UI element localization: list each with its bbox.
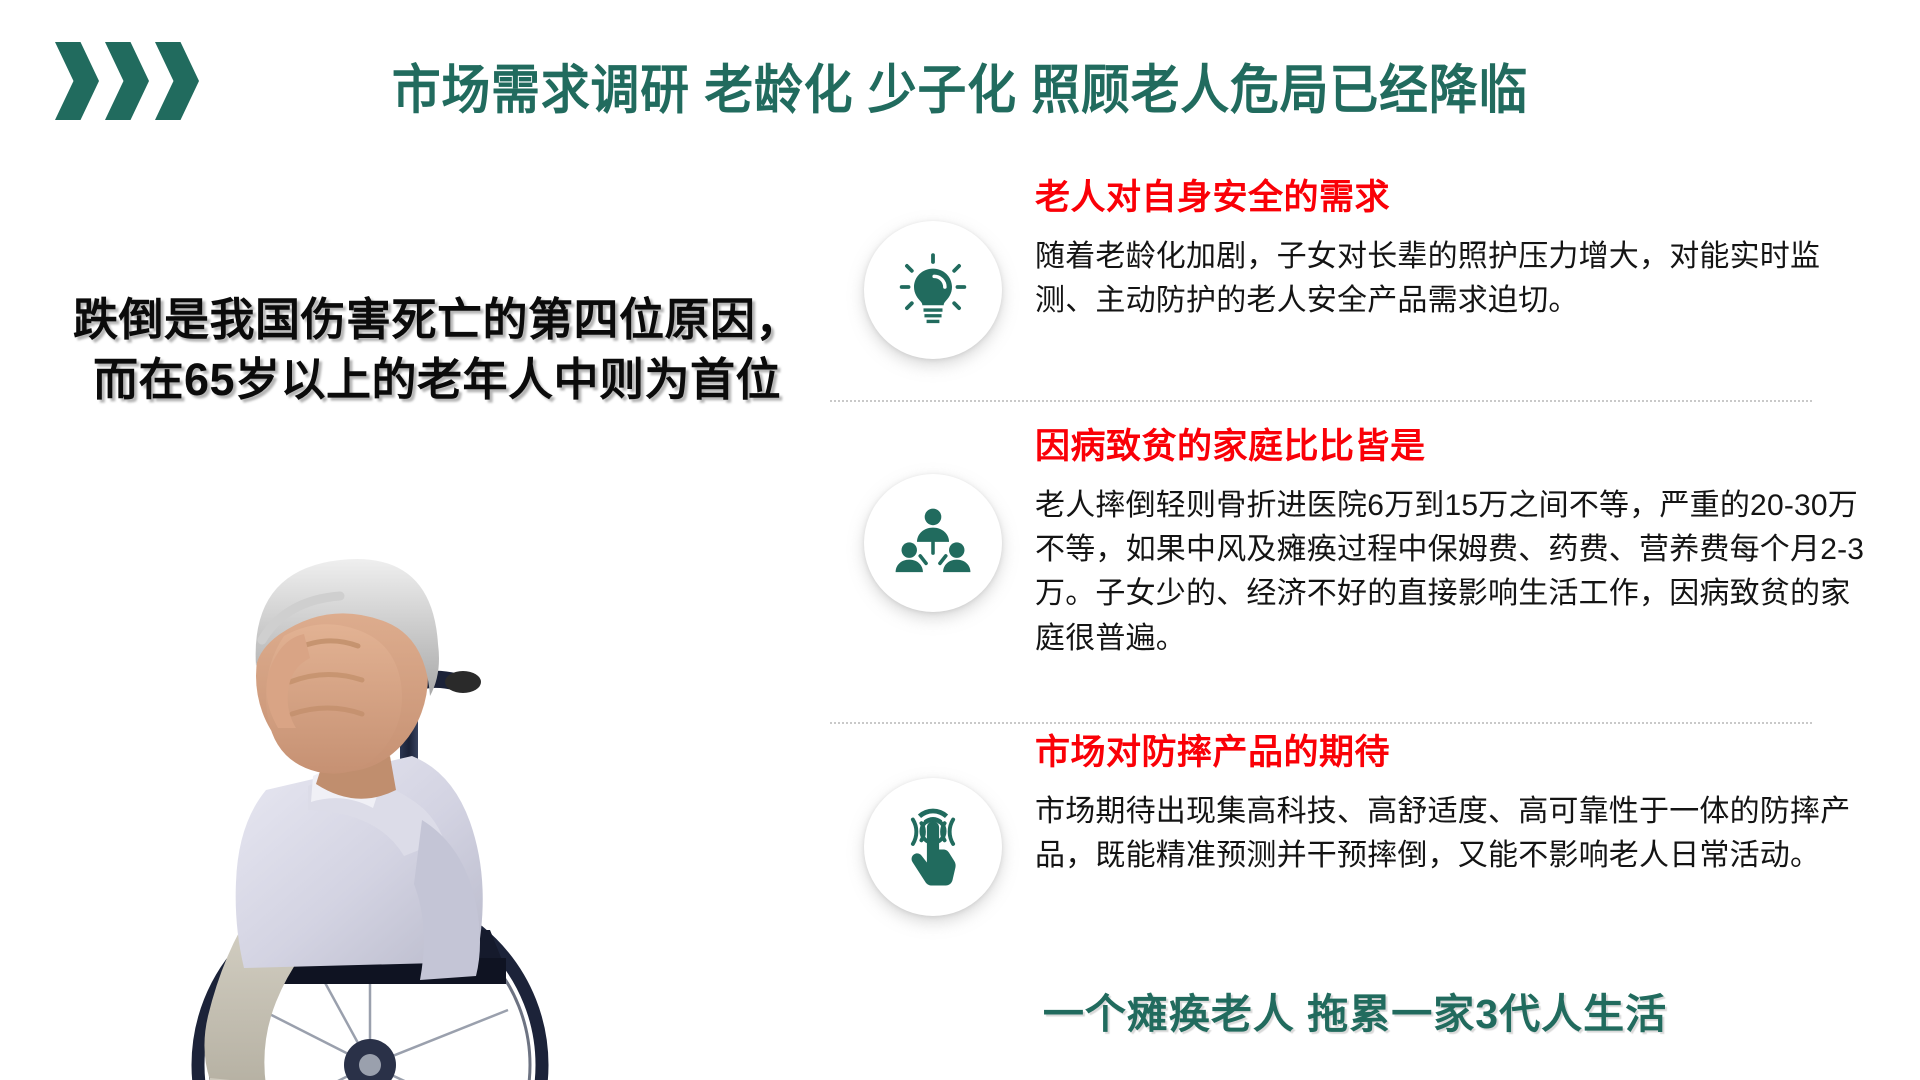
section-2-text: 老人摔倒轻则骨折进医院6万到15万之间不等，严重的20-30万不等，如果中风及瘫… [1035, 484, 1872, 662]
section-3-body: 市场对防摔产品的期待 市场期待出现集高科技、高舒适度、高可靠性于一体的防摔产品，… [1035, 724, 1920, 878]
right-column: 老人对自身安全的需求 随着老龄化加剧，子女对长辈的照护压力增大，对能实时监测、主… [830, 175, 1920, 1080]
footer-tagline: 一个瘫痪老人 拖累一家3代人生活 [830, 980, 1920, 1040]
headline-line-1: 跌倒是我国伤害死亡的第四位原因， [73, 294, 801, 345]
headline: 跌倒是我国伤害死亡的第四位原因， 而在65岁以上的老年人中则为首位 [52, 290, 822, 410]
left-column: 跌倒是我国伤害死亡的第四位原因， 而在65岁以上的老年人中则为首位 [0, 160, 830, 1080]
lightbulb-icon [895, 252, 971, 328]
section-1-badge [830, 221, 1035, 359]
content-section-3: 市场对防摔产品的期待 市场期待出现集高科技、高舒适度、高可靠性于一体的防摔产品，… [830, 724, 1920, 974]
family-group-icon [895, 505, 971, 581]
section-1-title: 老人对自身安全的需求 [1035, 179, 1872, 218]
section-3-badge [830, 778, 1035, 916]
section-1-text: 随着老龄化加剧，子女对长辈的照护压力增大，对能实时监测、主动防护的老人安全产品需… [1035, 235, 1872, 324]
section-2-badge [830, 474, 1035, 612]
section-2-body: 因病致贫的家庭比比皆是 老人摔倒轻则骨折进医院6万到15万之间不等，严重的20-… [1035, 402, 1920, 661]
wheelchair-photo [70, 490, 770, 1080]
headline-line-2: 而在65岁以上的老年人中则为首位 [52, 350, 822, 410]
content-section-1: 老人对自身安全的需求 随着老龄化加剧，子女对长辈的照护压力增大，对能实时监测、主… [830, 175, 1920, 400]
section-3-text: 市场期待出现集高科技、高舒适度、高可靠性于一体的防摔产品，既能精准预测并干预摔倒… [1035, 790, 1872, 879]
section-2-title: 因病致贫的家庭比比皆是 [1035, 428, 1872, 467]
slide-root: 市场需求调研 老龄化 少子化 照顾老人危局已经降临 跌倒是我国伤害死亡的第四位原… [0, 0, 1920, 1080]
tap-gesture-icon [894, 808, 972, 886]
section-3-title: 市场对防摔产品的期待 [1035, 734, 1872, 773]
slide-header: 市场需求调研 老龄化 少子化 照顾老人危局已经降临 [0, 0, 1920, 160]
page-title: 市场需求调研 老龄化 少子化 照顾老人危局已经降临 [77, 48, 1843, 124]
section-1-body: 老人对自身安全的需求 随着老龄化加剧，子女对长辈的照护压力增大，对能实时监测、主… [1035, 175, 1920, 323]
content-section-2: 因病致贫的家庭比比皆是 老人摔倒轻则骨折进医院6万到15万之间不等，严重的20-… [830, 402, 1920, 722]
